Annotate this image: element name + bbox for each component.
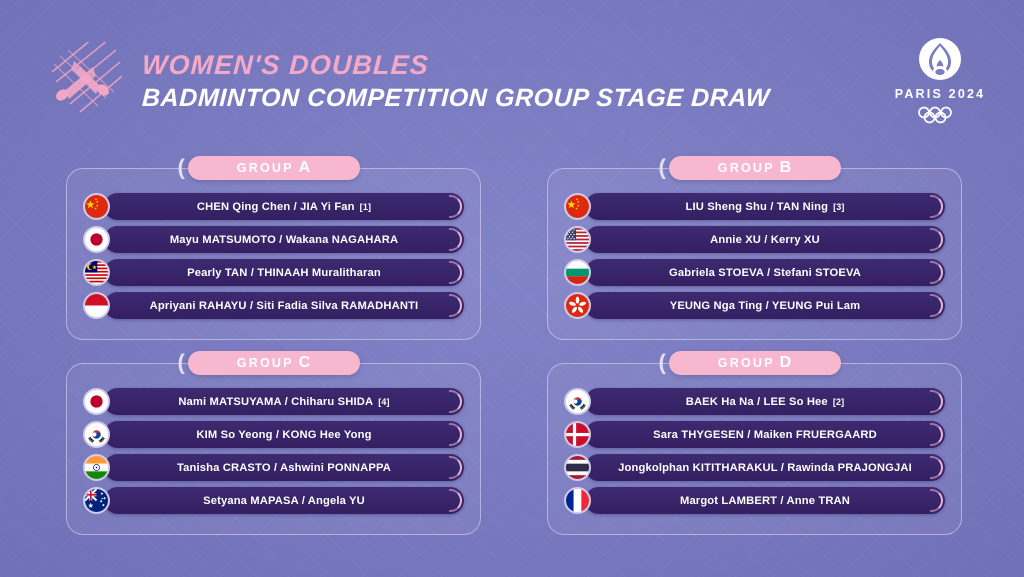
group-badge-wrap: GROUPD [547, 351, 962, 375]
flag-icon-id [83, 292, 110, 319]
team-row[interactable]: CHEN Qing Chen / JIA Yi Fan[1] [83, 193, 464, 220]
team-name-text: Gabriela STOEVA / Stefani STOEVA [669, 267, 861, 279]
team-name-text: Margot LAMBERT / Anne TRAN [680, 495, 850, 507]
flag-icon-us [564, 226, 591, 253]
group-badge-letter: D [780, 355, 792, 371]
group-card-b: GROUPB LIU Sheng Shu / TAN Ning[3] Annie… [547, 168, 962, 340]
team-name: Pearly TAN / THINAAH Muralitharan [104, 259, 464, 286]
team-row[interactable]: Mayu MATSUMOTO / Wakana NAGAHARA [83, 226, 464, 253]
team-name: Mayu MATSUMOTO / Wakana NAGAHARA [104, 226, 464, 253]
team-name-text: Nami MATSUYAMA / Chiharu SHIDA [178, 396, 373, 408]
team-name: Apriyani RAHAYU / Siti Fadia Silva RAMAD… [104, 292, 464, 319]
flag-icon-kr [83, 421, 110, 448]
group-badge-letter: B [780, 160, 792, 176]
team-name-text: Annie XU / Kerry XU [710, 234, 820, 246]
flag-icon-kr [564, 388, 591, 415]
group-badge-label: GROUP [237, 356, 294, 370]
team-row[interactable]: KIM So Yeong / KONG Hee Yong [83, 421, 464, 448]
page-header: WOMEN'S DOUBLES BADMINTON COMPETITION GR… [46, 42, 770, 120]
group-card-body: BAEK Ha Na / LEE So Hee[2] Sara THYGESEN… [547, 363, 962, 535]
group-badge-wrap: GROUPA [66, 156, 481, 180]
team-name-text: BAEK Ha Na / LEE So Hee [686, 396, 828, 408]
team-name-text: Jongkolphan KITITHARAKUL / Rawinda PRAJO… [618, 462, 912, 474]
flag-icon-cn [83, 193, 110, 220]
seed-badge: [1] [360, 202, 371, 212]
olympic-rings-icon [915, 106, 965, 124]
group-card-d: GROUPD BAEK Ha Na / LEE So Hee[2] Sara T… [547, 363, 962, 535]
team-name-text: Sara THYGESEN / Maiken FRUERGAARD [653, 429, 877, 441]
flag-icon-my [83, 259, 110, 286]
group-badge-a[interactable]: GROUPA [188, 156, 360, 180]
flag-icon-hk [564, 292, 591, 319]
group-badge-d[interactable]: GROUPD [669, 351, 841, 375]
team-name: Gabriela STOEVA / Stefani STOEVA [585, 259, 945, 286]
team-row[interactable]: Setyana MAPASA / Angela YU [83, 487, 464, 514]
team-name-text: Tanisha CRASTO / Ashwini PONNAPPA [177, 462, 391, 474]
team-name-text: Apriyani RAHAYU / Siti Fadia Silva RAMAD… [150, 300, 419, 312]
team-row[interactable]: Tanisha CRASTO / Ashwini PONNAPPA [83, 454, 464, 481]
flag-icon-bg [564, 259, 591, 286]
flag-icon-jp [83, 226, 110, 253]
page-title: WOMEN'S DOUBLES [141, 51, 770, 79]
team-name: Margot LAMBERT / Anne TRAN [585, 487, 945, 514]
team-name-text: LIU Sheng Shu / TAN Ning [685, 201, 828, 213]
flag-icon-in [83, 454, 110, 481]
seed-badge: [2] [833, 397, 844, 407]
group-badge-wrap: GROUPC [66, 351, 481, 375]
group-card-a: GROUPA CHEN Qing Chen / JIA Yi Fan[1]May… [66, 168, 481, 340]
team-name: Tanisha CRASTO / Ashwini PONNAPPA [104, 454, 464, 481]
team-name: KIM So Yeong / KONG Hee Yong [104, 421, 464, 448]
flag-icon-au [83, 487, 110, 514]
group-badge-c[interactable]: GROUPC [188, 351, 360, 375]
team-row[interactable]: Gabriela STOEVA / Stefani STOEVA [564, 259, 945, 286]
paris2024-logo: PARIS 2024 [894, 36, 986, 124]
team-row[interactable]: Jongkolphan KITITHARAKUL / Rawinda PRAJO… [564, 454, 945, 481]
team-name: YEUNG Nga Ting / YEUNG Pui Lam [585, 292, 945, 319]
team-name-text: KIM So Yeong / KONG Hee Yong [196, 429, 371, 441]
group-card-body: LIU Sheng Shu / TAN Ning[3] Annie XU / K… [547, 168, 962, 340]
team-name-text: Pearly TAN / THINAAH Muralitharan [187, 267, 381, 279]
team-name-text: Mayu MATSUMOTO / Wakana NAGAHARA [170, 234, 398, 246]
team-row[interactable]: YEUNG Nga Ting / YEUNG Pui Lam [564, 292, 945, 319]
team-name: Jongkolphan KITITHARAKUL / Rawinda PRAJO… [585, 454, 945, 481]
paris2024-flame-emblem [917, 36, 963, 82]
seed-badge: [3] [833, 202, 844, 212]
flag-icon-jp [83, 388, 110, 415]
team-name: BAEK Ha Na / LEE So Hee[2] [585, 388, 945, 415]
group-badge-letter: A [299, 160, 311, 176]
group-badge-b[interactable]: GROUPB [669, 156, 841, 180]
group-card-body: Nami MATSUYAMA / Chiharu SHIDA[4] KIM So… [66, 363, 481, 535]
flag-icon-th [564, 454, 591, 481]
team-name-text: YEUNG Nga Ting / YEUNG Pui Lam [670, 300, 861, 312]
flag-icon-cn [564, 193, 591, 220]
group-card-body: CHEN Qing Chen / JIA Yi Fan[1]Mayu MATSU… [66, 168, 481, 340]
flag-icon-dk [564, 421, 591, 448]
team-name: LIU Sheng Shu / TAN Ning[3] [585, 193, 945, 220]
team-row[interactable]: Annie XU / Kerry XU [564, 226, 945, 253]
team-row[interactable]: Nami MATSUYAMA / Chiharu SHIDA[4] [83, 388, 464, 415]
team-name: CHEN Qing Chen / JIA Yi Fan[1] [104, 193, 464, 220]
group-card-c: GROUPCNami MATSUYAMA / Chiharu SHIDA[4] … [66, 363, 481, 535]
flag-icon-fr [564, 487, 591, 514]
team-row[interactable]: Margot LAMBERT / Anne TRAN [564, 487, 945, 514]
team-name: Nami MATSUYAMA / Chiharu SHIDA[4] [104, 388, 464, 415]
team-name: Annie XU / Kerry XU [585, 226, 945, 253]
team-row[interactable]: LIU Sheng Shu / TAN Ning[3] [564, 193, 945, 220]
page-subtitle: BADMINTON COMPETITION GROUP STAGE DRAW [141, 84, 770, 113]
crossed-shuttlecocks-icon [46, 42, 124, 120]
group-badge-letter: C [299, 355, 311, 371]
paris2024-wordmark: PARIS 2024 [895, 87, 986, 101]
team-name: Sara THYGESEN / Maiken FRUERGAARD [585, 421, 945, 448]
team-row[interactable]: Pearly TAN / THINAAH Muralitharan [83, 259, 464, 286]
group-badge-wrap: GROUPB [547, 156, 962, 180]
team-row[interactable]: Sara THYGESEN / Maiken FRUERGAARD [564, 421, 945, 448]
group-badge-label: GROUP [718, 161, 775, 175]
seed-badge: [4] [378, 397, 389, 407]
group-badge-label: GROUP [237, 161, 294, 175]
group-stage-draw-grid: GROUPA CHEN Qing Chen / JIA Yi Fan[1]May… [66, 168, 962, 535]
header-titles: WOMEN'S DOUBLES BADMINTON COMPETITION GR… [142, 49, 770, 112]
team-row[interactable]: Apriyani RAHAYU / Siti Fadia Silva RAMAD… [83, 292, 464, 319]
team-name-text: Setyana MAPASA / Angela YU [203, 495, 365, 507]
team-name-text: CHEN Qing Chen / JIA Yi Fan [197, 201, 355, 213]
team-row[interactable]: BAEK Ha Na / LEE So Hee[2] [564, 388, 945, 415]
group-badge-label: GROUP [718, 356, 775, 370]
team-name: Setyana MAPASA / Angela YU [104, 487, 464, 514]
